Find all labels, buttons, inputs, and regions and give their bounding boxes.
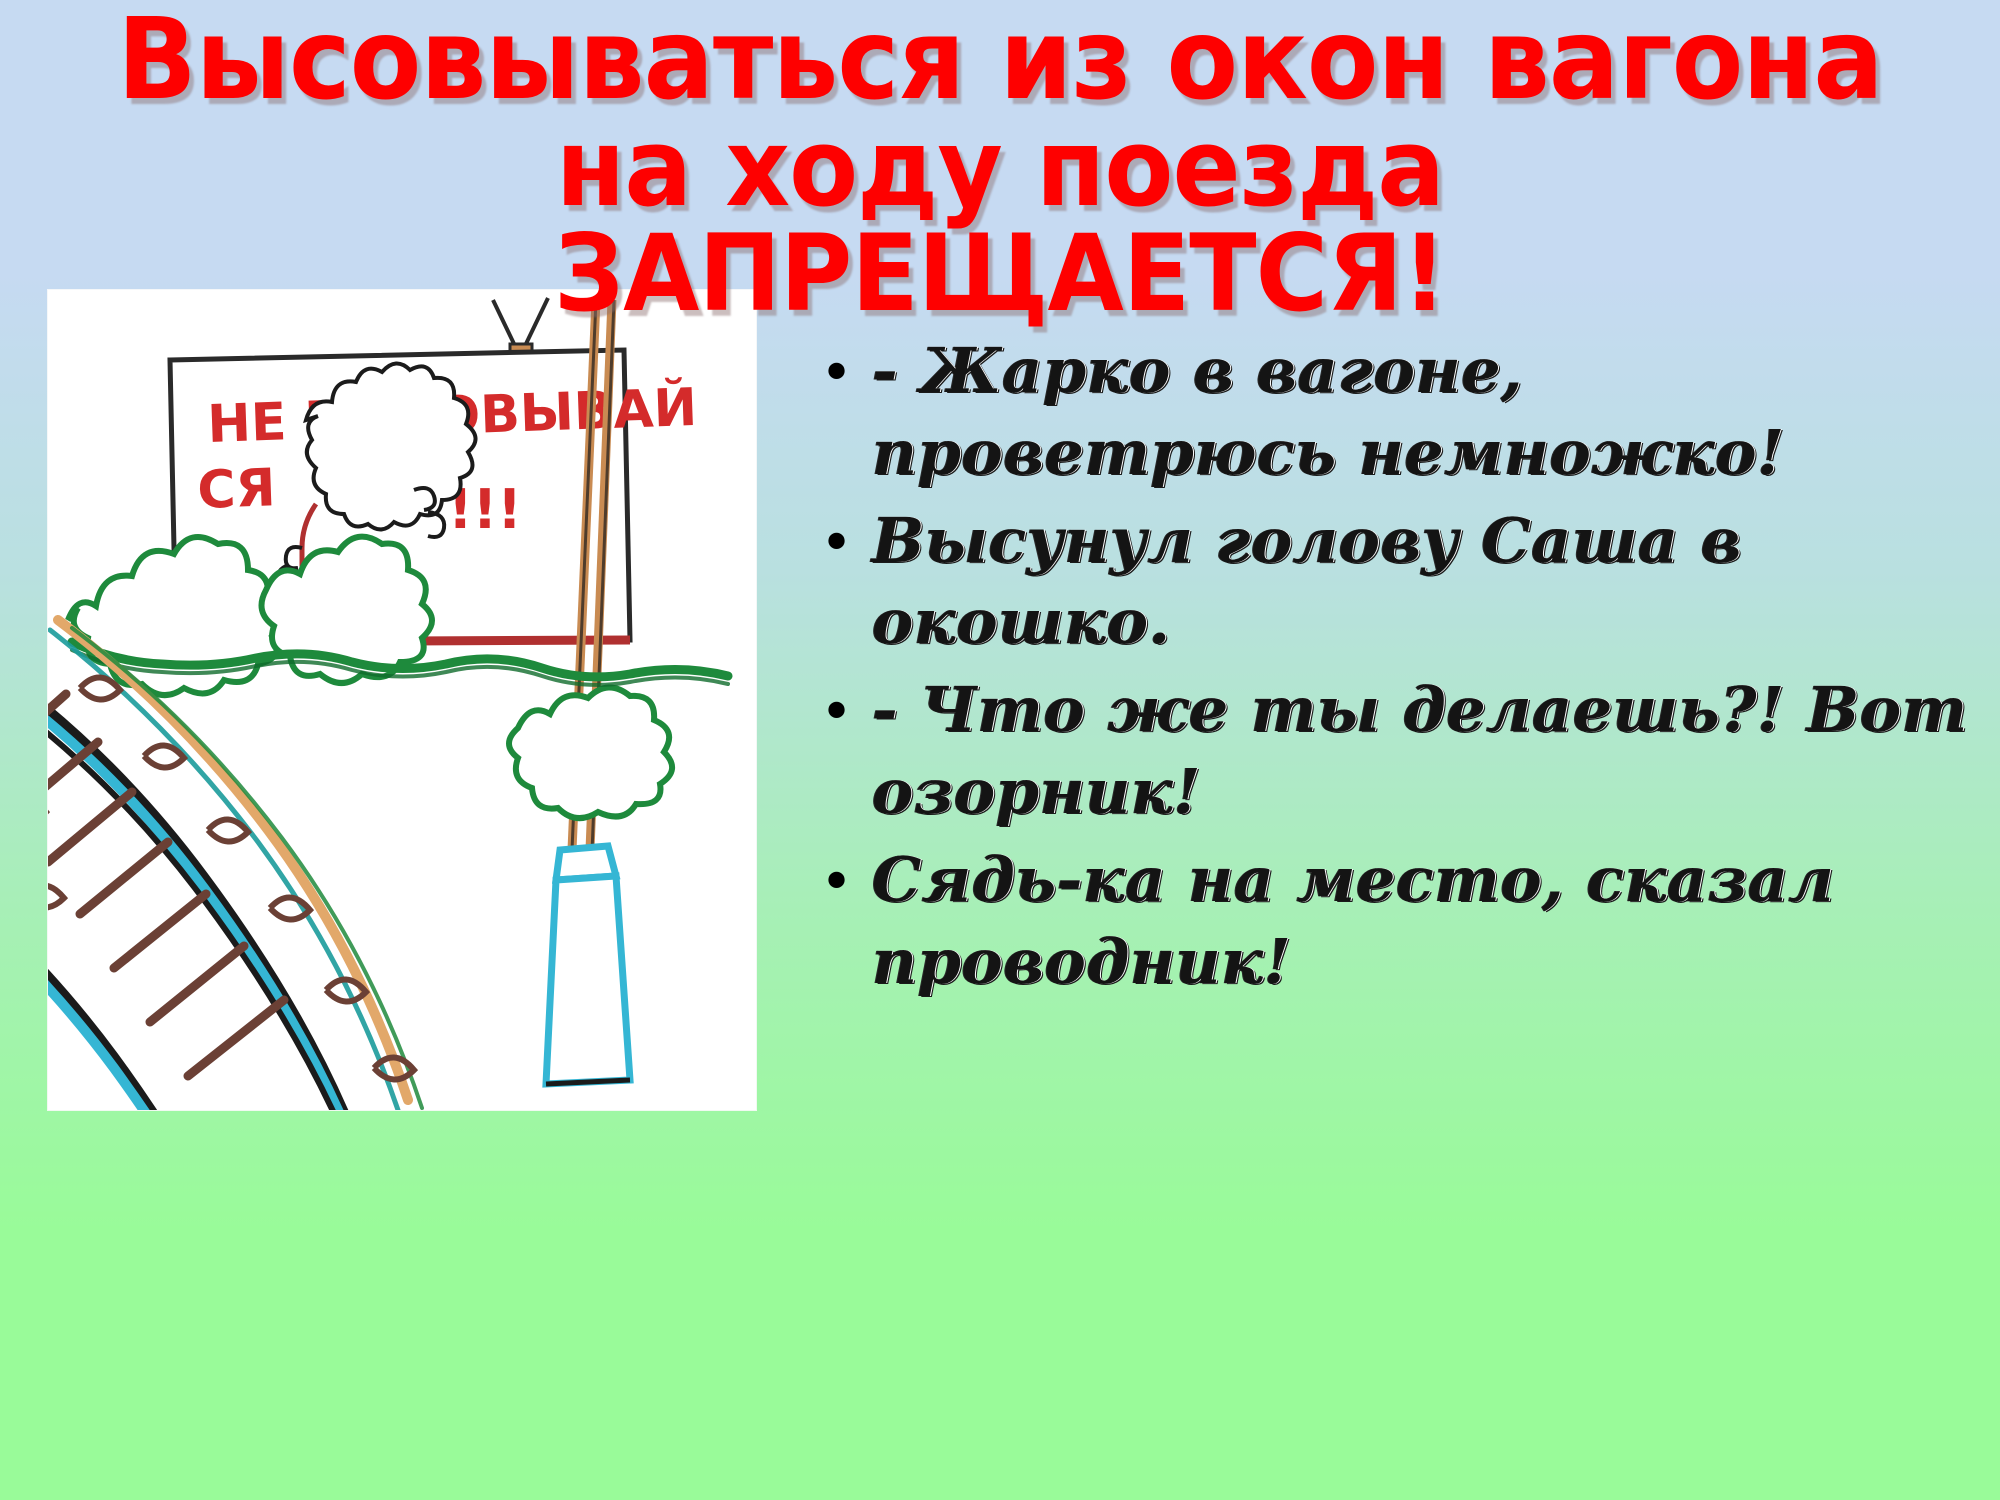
sign-text-line2: СЯ <box>196 458 276 521</box>
list-item: • - Что же ты делаешь?! Вот озорник! <box>820 669 1980 833</box>
bullet-text-4: Сядь-ка на место, сказал проводник! <box>872 839 1980 1003</box>
bullet-list: • - Жарко в вагоне, проветрюсь немножко!… <box>820 330 1980 1009</box>
list-item: • - Жарко в вагоне, проветрюсь немножко! <box>820 330 1980 494</box>
bullet-text-1: - Жарко в вагоне, проветрюсь немножко! <box>872 330 1980 494</box>
bullet-marker-icon: • <box>820 330 872 402</box>
slide-title: Высовываться из окон вагона на ходу поез… <box>0 6 2000 325</box>
list-item: • Сядь-ка на место, сказал проводник! <box>820 839 1980 1003</box>
presentation-slide: Высовываться из окон вагона на ходу поез… <box>0 0 2000 1500</box>
bullet-marker-icon: • <box>820 839 872 911</box>
list-item: • Высунул голову Саша в окошко. <box>820 500 1980 664</box>
title-line-2: на ходу поезда <box>70 116 1930 222</box>
bullet-text-3: - Что же ты делаешь?! Вот озорник! <box>872 669 1980 833</box>
title-line-3: ЗАПРЕЩАЕТСЯ! <box>70 222 1930 326</box>
hand-drawn-railway-scene: НЕ ВЫСОВЫВАЙ СЯ !!! <box>48 290 756 1110</box>
railway-illustration: НЕ ВЫСОВЫВАЙ СЯ !!! <box>48 290 756 1110</box>
title-line-1: Высовываться из окон вагона <box>70 6 1930 116</box>
bullet-marker-icon: • <box>820 669 872 741</box>
bullet-text-2: Высунул голову Саша в окошко. <box>872 500 1980 664</box>
bullet-marker-icon: • <box>820 500 872 572</box>
